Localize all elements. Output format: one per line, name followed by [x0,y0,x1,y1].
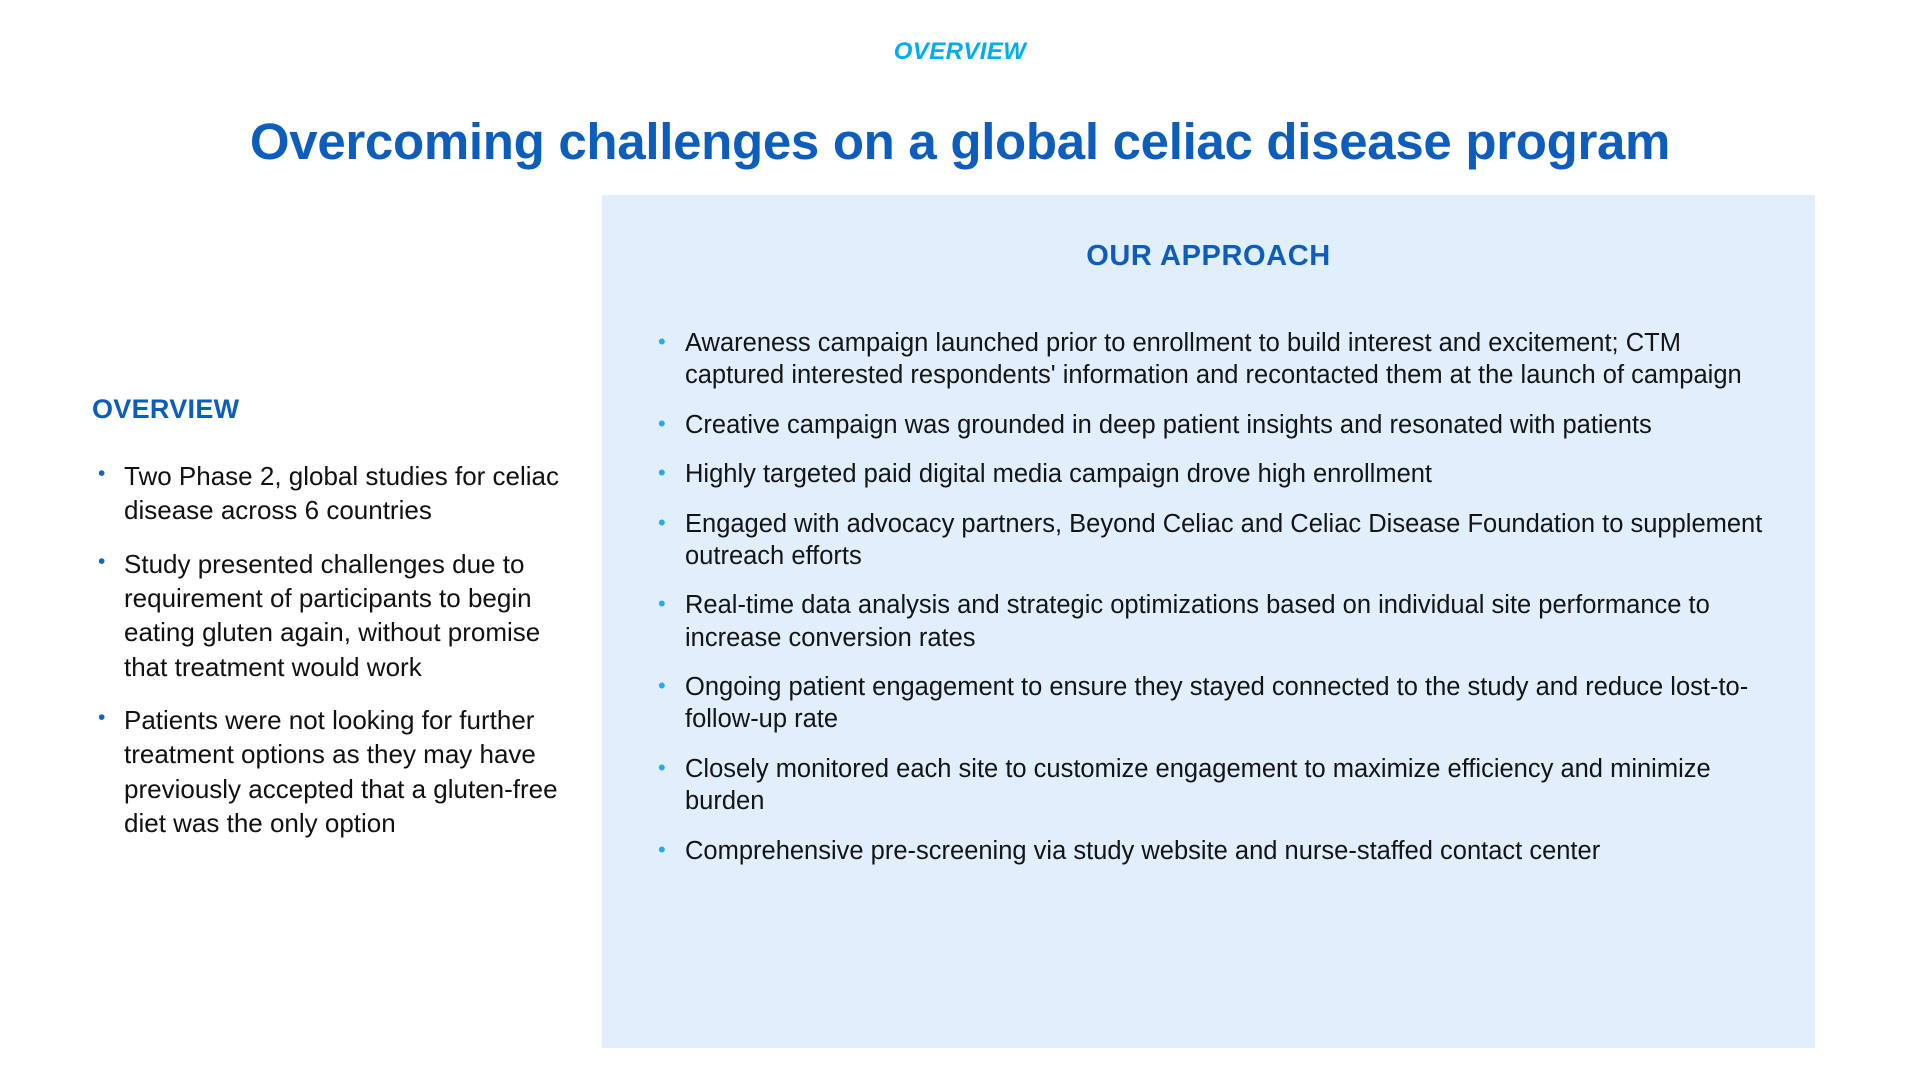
list-item: Comprehensive pre-screening via study we… [650,835,1780,867]
our-approach-bullet-list: Awareness campaign launched prior to enr… [650,327,1780,884]
list-item: Closely monitored each site to customize… [650,753,1780,818]
list-item: Engaged with advocacy partners, Beyond C… [650,508,1780,573]
overview-bullet-list: Two Phase 2, global studies for celiac d… [92,459,572,840]
list-item: Study presented challenges due to requir… [92,547,572,684]
list-item: Awareness campaign launched prior to enr… [650,327,1780,392]
overview-column: OVERVIEW Two Phase 2, global studies for… [92,394,572,859]
page-title: Overcoming challenges on a global celiac… [0,114,1920,169]
slide-eyebrow-label: OVERVIEW [0,38,1920,66]
list-item: Real-time data analysis and strategic op… [650,589,1780,654]
our-approach-panel: OUR APPROACH Awareness campaign launched… [602,195,1815,1048]
our-approach-heading: OUR APPROACH [602,240,1815,273]
list-item: Highly targeted paid digital media campa… [650,458,1780,490]
list-item: Two Phase 2, global studies for celiac d… [92,459,572,528]
slide-overview-celiac-program: { "header": { "eyebrow": "OVERVIEW", "ti… [0,0,1920,1080]
overview-heading: OVERVIEW [92,394,572,425]
list-item: Patients were not looking for further tr… [92,703,572,840]
list-item: Ongoing patient engagement to ensure the… [650,671,1780,736]
list-item: Creative campaign was grounded in deep p… [650,409,1780,441]
